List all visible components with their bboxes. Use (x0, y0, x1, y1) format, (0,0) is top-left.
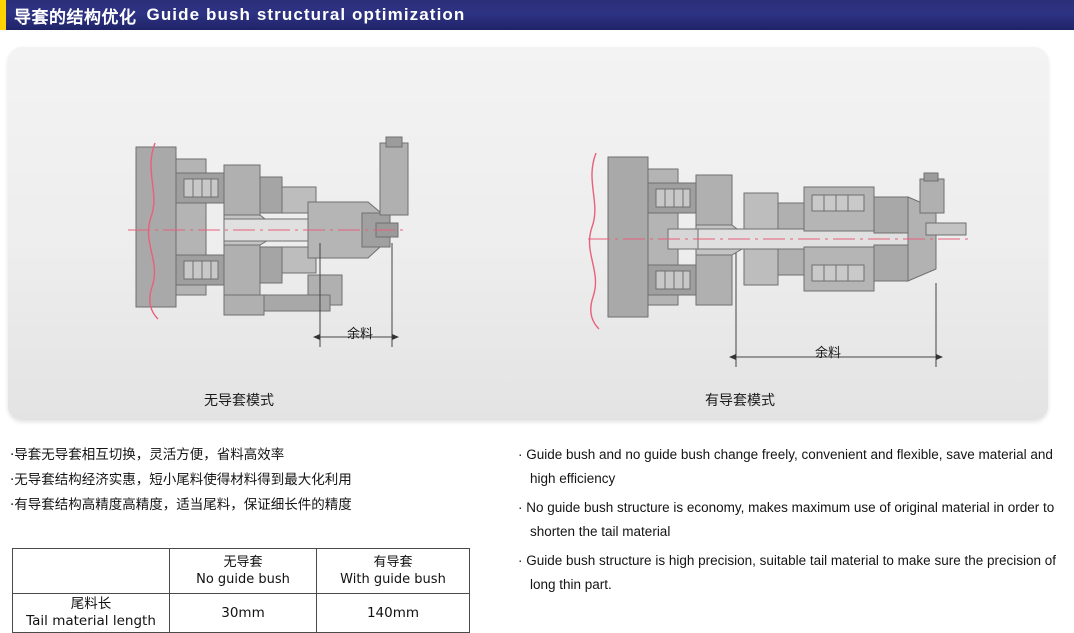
page-title-english: Guide bush structural optimization (147, 5, 466, 25)
table-header-with-guide-bush-cn: 有导套 (323, 554, 463, 571)
table-header-no-guide-bush: 无导套 No guide bush (170, 549, 317, 594)
bullet-cn-3: ·有导套结构高精度高精度，适当尾料，保证细长件的精度 (10, 493, 480, 518)
caption-with-guide-bush: 有导套模式 (705, 390, 775, 410)
table-header-no-guide-bush-en: No guide bush (176, 571, 310, 588)
left-machine-assembly (136, 137, 408, 315)
bullet-en-1: · Guide bush and no guide bush change fr… (518, 443, 1068, 491)
bullet-en-3: · Guide bush structure is high precision… (518, 549, 1068, 597)
table-cell-with-guide-bush-value: 140mm (317, 594, 470, 633)
caption-no-guide-bush: 无导套模式 (204, 390, 274, 410)
tail-material-table: 无导套 No guide bush 有导套 With guide bush 尾料… (12, 548, 470, 633)
table-row-header: 无导套 No guide bush 有导套 With guide bush (13, 549, 470, 594)
bullet-en-2: · No guide bush structure is economy, ma… (518, 496, 1068, 544)
table-row: 尾料长 Tail material length 30mm 140mm (13, 594, 470, 633)
right-machine-assembly (608, 157, 966, 317)
bullet-cn-1: ·导套无导套相互切换，灵活方便，省料高效率 (10, 443, 480, 468)
table-row-label-en: Tail material length (19, 613, 163, 630)
header-accent-bar (0, 0, 6, 30)
diagram-canvas: 余料 余料 无导套模式 有导套模式 (8, 47, 1048, 420)
machine-diagram-svg (8, 47, 1048, 420)
bullet-cn-2: ·无导套结构经济实惠，短小尾料使得材料得到最大化利用 (10, 468, 480, 493)
table-header-with-guide-bush-en: With guide bush (323, 571, 463, 588)
table-row-label: 尾料长 Tail material length (13, 594, 170, 633)
diagram-panel: 余料 余料 无导套模式 有导套模式 (8, 47, 1048, 420)
bullet-list-english: · Guide bush and no guide bush change fr… (518, 443, 1068, 602)
table-row-label-cn: 尾料长 (19, 596, 163, 613)
table-cell-no-guide-bush-value: 30mm (170, 594, 317, 633)
table-header-with-guide-bush: 有导套 With guide bush (317, 549, 470, 594)
table-header-no-guide-bush-cn: 无导套 (176, 554, 310, 571)
bullet-list-chinese: ·导套无导套相互切换，灵活方便，省料高效率 ·无导套结构经济实惠，短小尾料使得材… (10, 443, 480, 518)
dimension-label-right: 余料 (815, 342, 841, 361)
page-title-chinese: 导套的结构优化 (14, 3, 137, 28)
material-profile-right (590, 153, 599, 329)
page-header: 导套的结构优化 Guide bush structural optimizati… (0, 0, 1074, 30)
dimension-label-left: 余料 (347, 323, 373, 342)
table-corner-cell (13, 549, 170, 594)
